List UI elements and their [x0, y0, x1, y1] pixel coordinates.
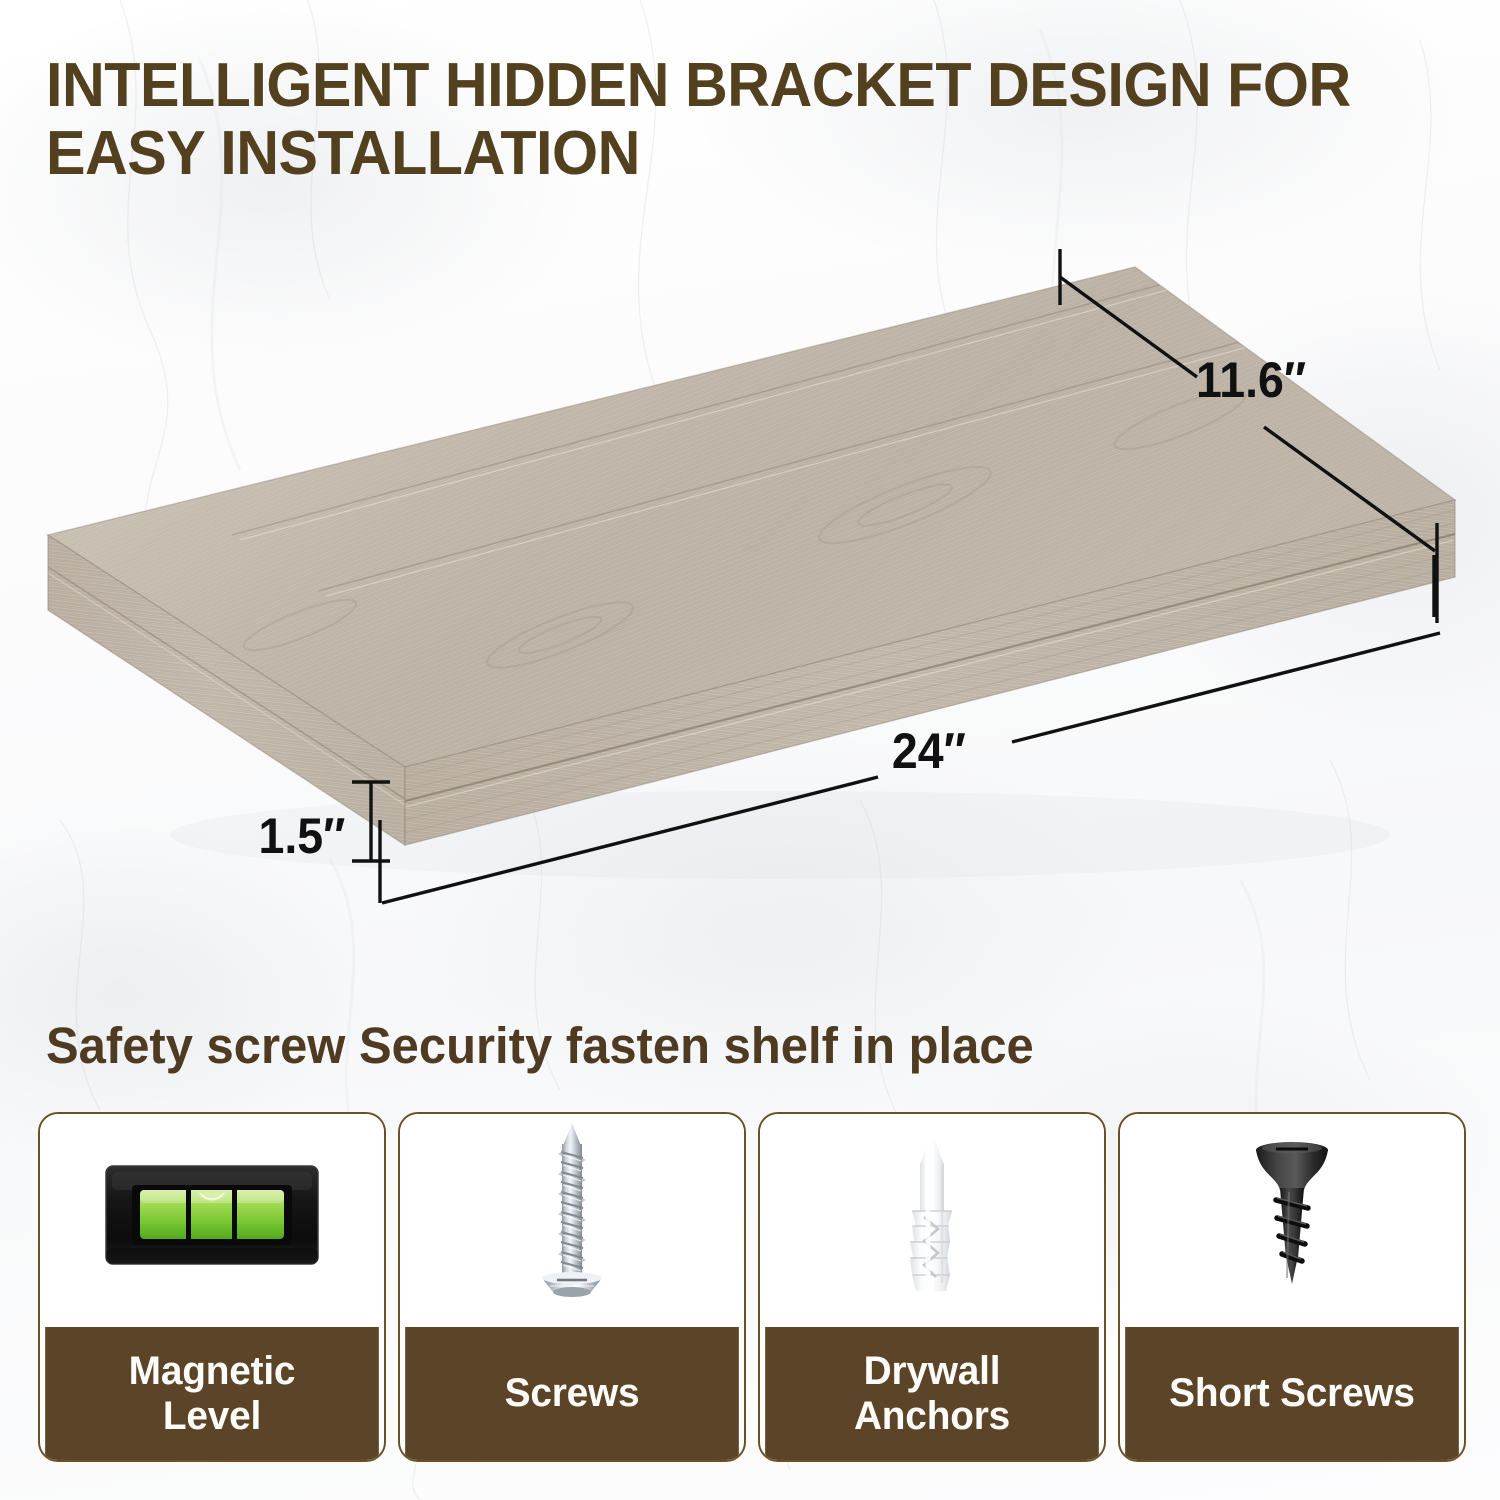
accessory-card-screws[interactable]: Screws [398, 1112, 746, 1462]
accessory-card-drywall-anchors[interactable]: Drywall Anchors [758, 1112, 1106, 1462]
accessory-card-magnetic-level[interactable]: Magnetic Level [38, 1112, 386, 1462]
short-screw-icon [1232, 1130, 1352, 1300]
drywall-anchor-icon [872, 1125, 992, 1305]
shelf-diagram: 11.6″ 24″ 1.5″ [0, 205, 1500, 965]
accessories-card-row: Magnetic Level [38, 1112, 1466, 1462]
product-hero-illustration: 11.6″ 24″ 1.5″ [0, 205, 1500, 965]
accessory-label: Magnetic Level [45, 1327, 379, 1460]
accessory-label: Drywall Anchors [765, 1327, 1099, 1460]
accessory-label: Screws [405, 1327, 739, 1460]
dimension-label-width: 24″ [892, 723, 966, 779]
page-title: INTELLIGENT HIDDEN BRACKET DESIGN FOR EA… [46, 52, 1402, 188]
dimension-label-depth: 11.6″ [1196, 352, 1306, 408]
accessory-image-area [40, 1114, 384, 1327]
accessory-image-area [400, 1114, 744, 1327]
accessory-label: Short Screws [1125, 1327, 1459, 1460]
accessory-image-area [1120, 1114, 1464, 1327]
long-screw-icon [517, 1120, 627, 1310]
dimension-label-height: 1.5″ [259, 808, 346, 864]
accessory-card-short-screws[interactable]: Short Screws [1118, 1112, 1466, 1462]
section-subtitle: Safety screw Security fasten shelf in pl… [46, 1018, 1390, 1074]
magnetic-level-icon [102, 1160, 322, 1270]
accessory-image-area [760, 1114, 1104, 1327]
